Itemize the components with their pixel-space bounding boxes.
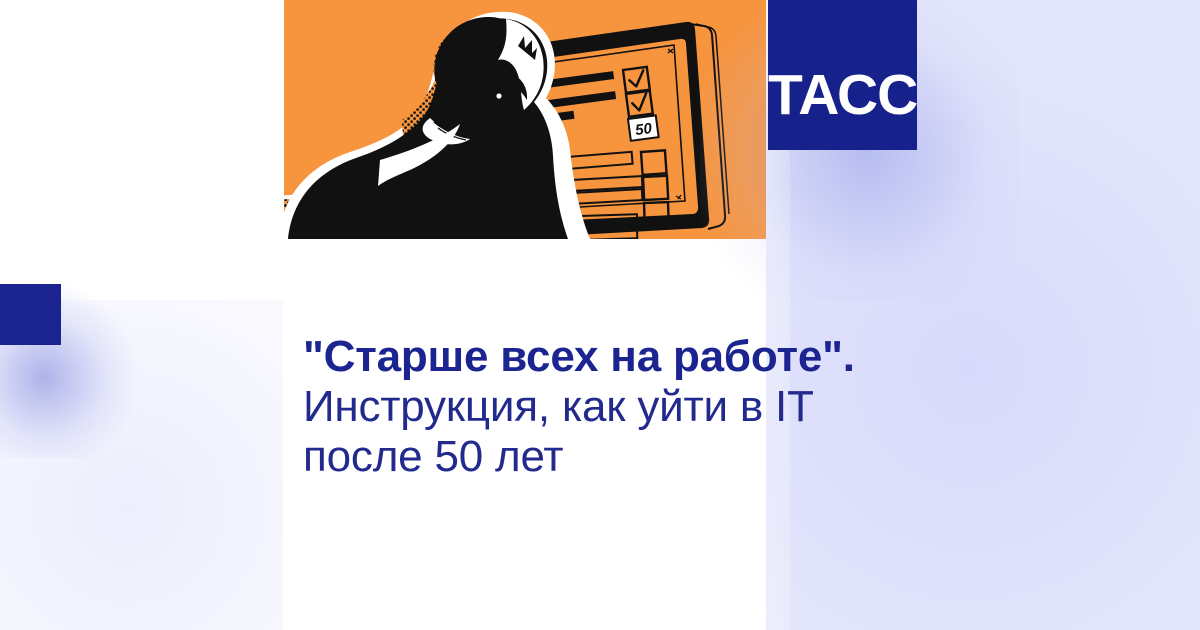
- tass-logo-text: ТАСС: [768, 67, 917, 124]
- tass-logo[interactable]: ТАСС: [768, 0, 917, 150]
- page-title: "Старше всех на работе". Инструкция, как…: [303, 332, 903, 482]
- share-card: 50: [0, 0, 1200, 630]
- decorative-square: [0, 284, 61, 345]
- decorative-square-group: [0, 284, 160, 454]
- article-illustration: 50: [284, 0, 766, 239]
- headline-quoted: "Старше всех на работе".: [303, 332, 855, 381]
- headline-rest: Инструкция, как уйти в IT после 50 лет: [303, 382, 813, 481]
- form-age-value: 50: [634, 120, 653, 139]
